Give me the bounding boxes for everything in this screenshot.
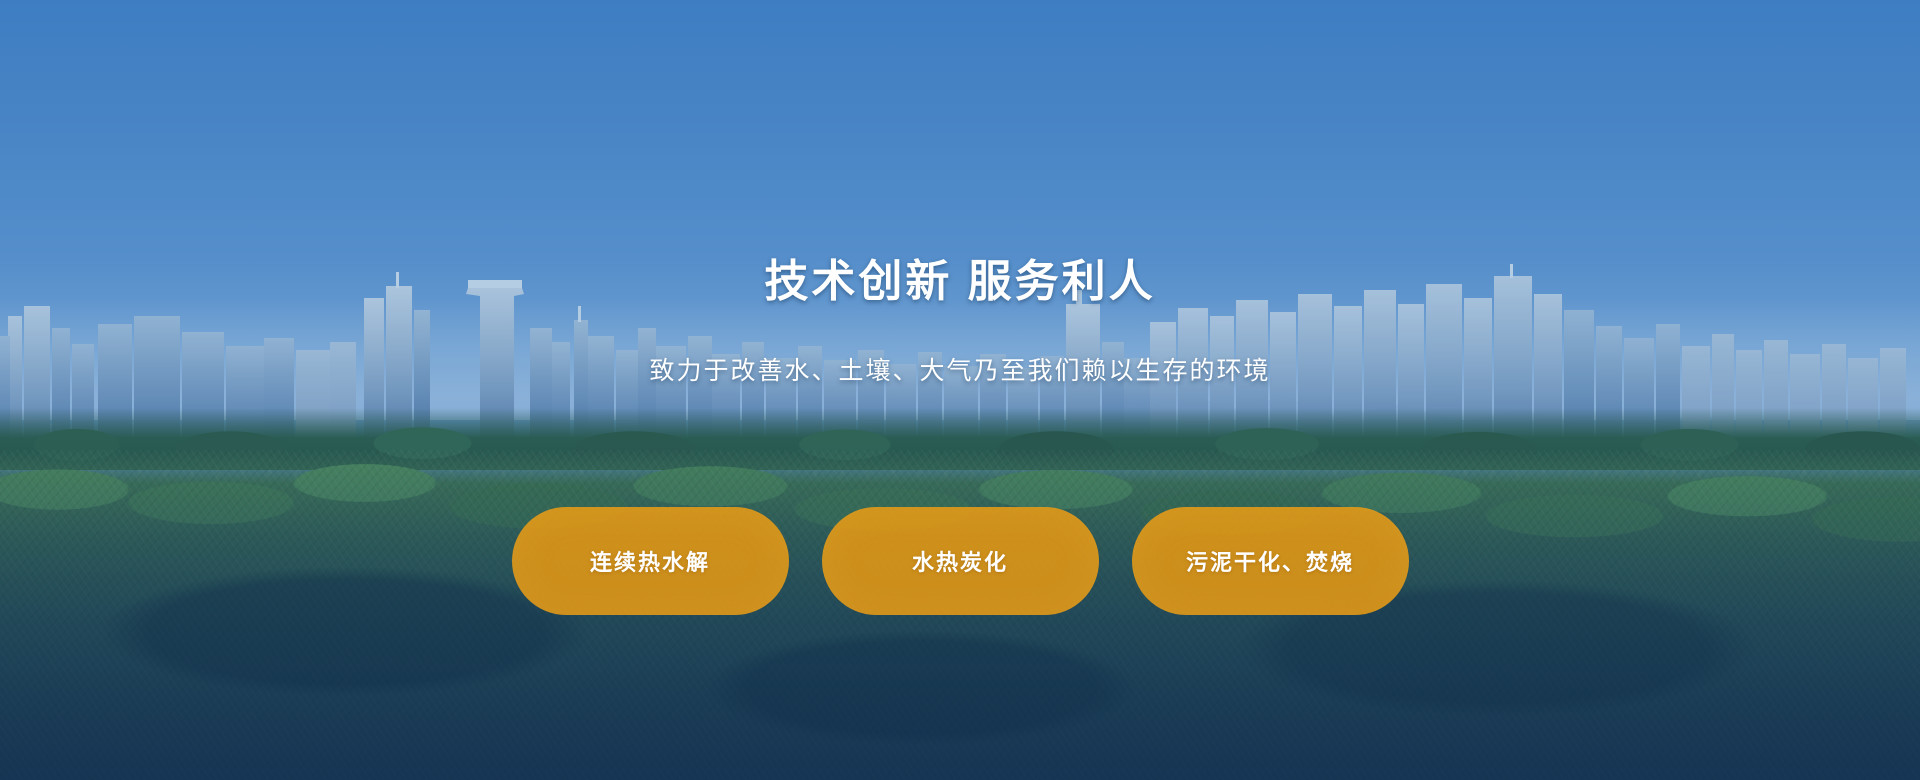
service-button-row: 连续热水解 水热炭化 污泥干化、焚烧 [512,507,1409,615]
page-title: 技术创新 服务利人 [764,258,1155,306]
service-button-continuous-thermal-hydrolysis[interactable]: 连续热水解 [512,507,789,615]
hero-content: 技术创新 服务利人 致力于改善水、土壤、大气乃至我们赖以生存的环境 连续热水解 … [0,0,1920,780]
hero-banner: 技术创新 服务利人 致力于改善水、土壤、大气乃至我们赖以生存的环境 连续热水解 … [0,0,1920,780]
service-button-hydrothermal-carbonization[interactable]: 水热炭化 [822,507,1099,615]
service-button-sludge-drying-incineration[interactable]: 污泥干化、焚烧 [1132,507,1409,615]
page-subtitle: 致力于改善水、土壤、大气乃至我们赖以生存的环境 [649,356,1270,386]
